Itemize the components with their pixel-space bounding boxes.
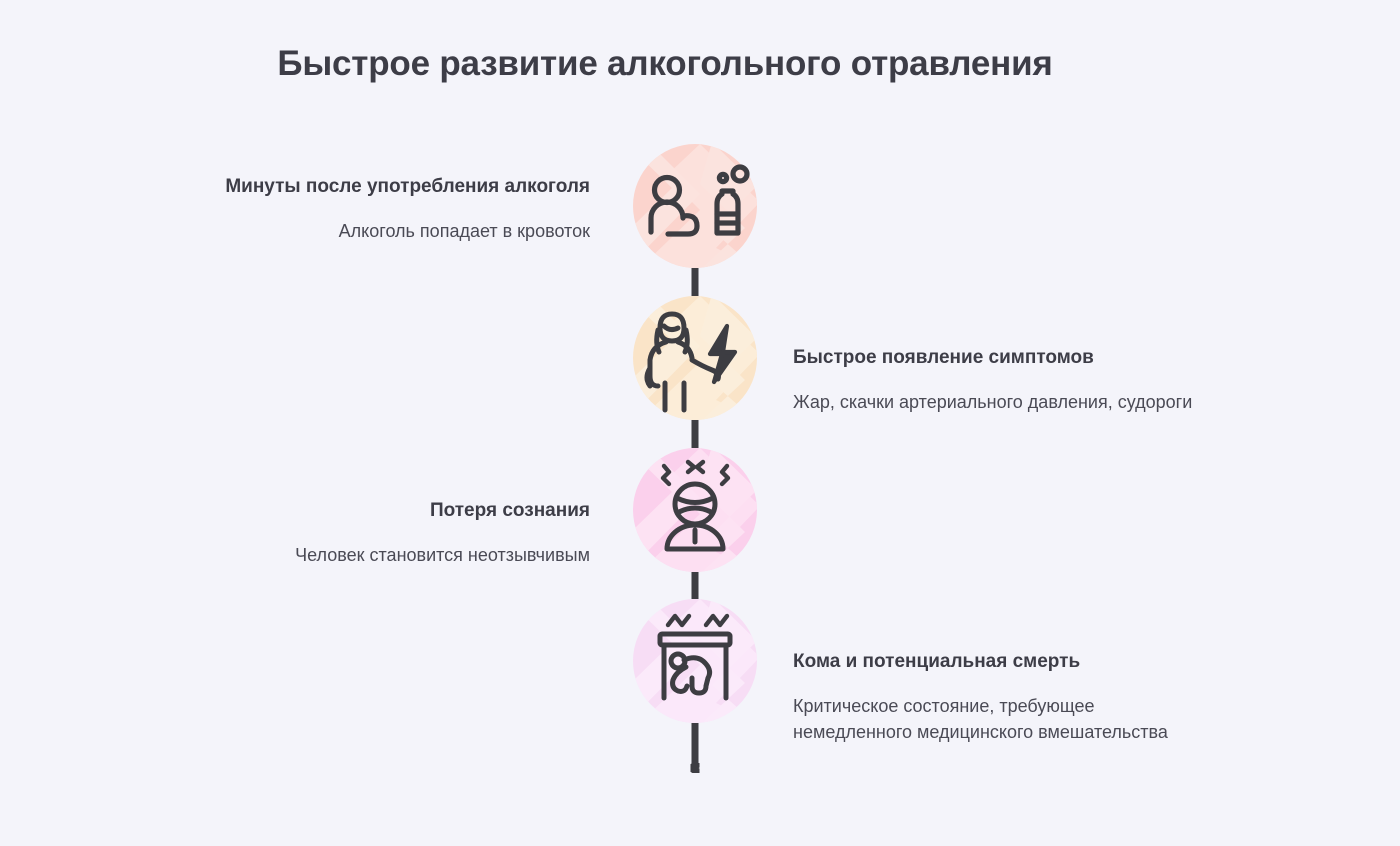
page-title: Быстрое развитие алкогольного отравления [0, 44, 1330, 84]
step-1-text: Минуты после употребления алкоголя Алког… [170, 174, 590, 244]
timeline-node-4[interactable] [633, 597, 760, 725]
step-3-text: Потеря сознания Человек становится неотз… [170, 498, 590, 568]
step-3-description: Человек становится неотзывчивым [170, 542, 590, 568]
step-3-heading: Потеря сознания [170, 498, 590, 524]
step-4-description: Критическое состояние, требующее немедле… [793, 693, 1213, 745]
step-2-description: Жар, скачки артериального давления, судо… [793, 389, 1213, 415]
timeline-node-3[interactable] [633, 446, 760, 574]
step-2-heading: Быстрое появление симптомов [793, 345, 1213, 371]
timeline-node-1[interactable] [633, 142, 760, 270]
timeline: Минуты после употребления алкоголя Алког… [0, 130, 1400, 810]
step-4-text: Кома и потенциальная смерть Критическое … [793, 649, 1213, 745]
step-1-heading: Минуты после употребления алкоголя [170, 174, 590, 200]
step-4-heading: Кома и потенциальная смерть [793, 649, 1213, 675]
timeline-node-2[interactable] [633, 294, 760, 422]
step-2-text: Быстрое появление симптомов Жар, скачки … [793, 345, 1213, 415]
step-1-description: Алкоголь попадает в кровоток [170, 218, 590, 244]
